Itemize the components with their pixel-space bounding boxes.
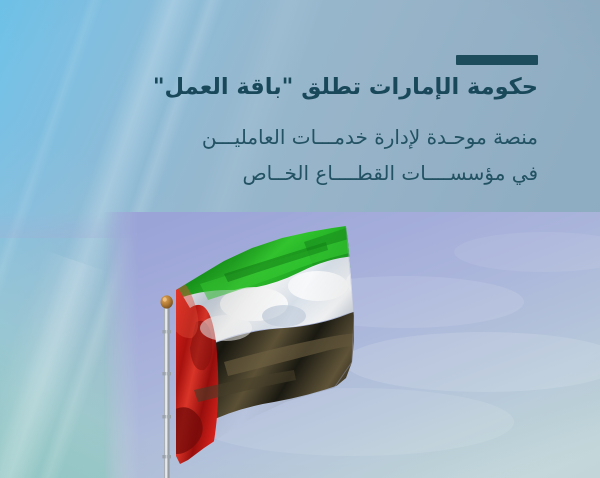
accent-divider-bar [456, 55, 538, 65]
subtitle-line-1: منصة موحـدة لإدارة خدمـــات العامليـــن [40, 124, 538, 150]
pole-finial [161, 295, 173, 308]
poster-canvas: حكومة الإمارات تطلق "باقة العمل" منصة مو… [0, 0, 600, 478]
uae-flag-photo [104, 212, 600, 478]
subtitle-line-2: في مؤسســــات القطــــاع الخــاص [40, 160, 538, 186]
page-title: حكومة الإمارات تطلق "باقة العمل" [40, 72, 538, 102]
